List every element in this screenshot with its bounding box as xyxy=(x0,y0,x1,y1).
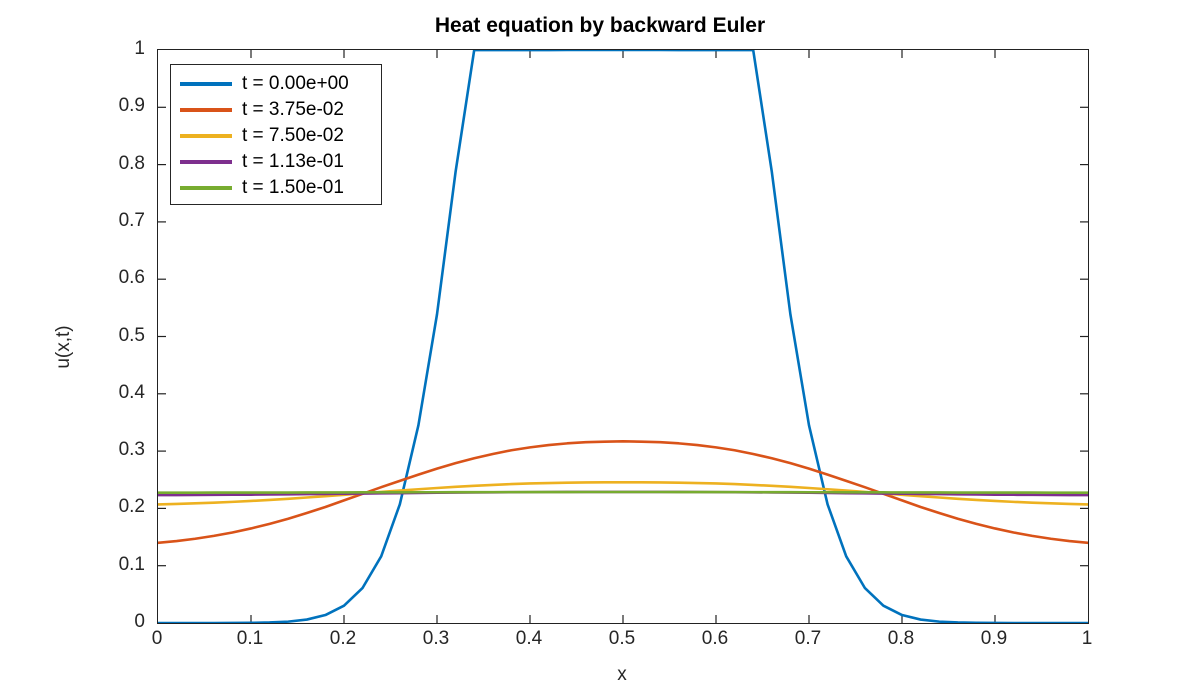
x-tick-label: 0.4 xyxy=(516,628,542,650)
x-tick-label: 0.7 xyxy=(795,628,821,650)
legend-item-label: t = 3.75e-02 xyxy=(242,99,344,121)
y-tick-label: 0 xyxy=(134,611,145,633)
legend-item-label: t = 7.50e-02 xyxy=(242,125,344,147)
x-tick-label: 0.3 xyxy=(423,628,449,650)
legend-item-label: t = 1.50e-01 xyxy=(242,177,344,199)
y-tick-label: 1 xyxy=(134,38,145,60)
figure-canvas: Heat equation by backward Euler 00.10.20… xyxy=(0,0,1200,700)
legend-item[interactable]: t = 3.75e-02 xyxy=(171,97,381,123)
y-tick-label: 0.4 xyxy=(119,382,145,404)
legend-color-swatch xyxy=(180,134,232,138)
x-tick-label: 0 xyxy=(152,628,163,650)
y-tick-label: 0.2 xyxy=(119,496,145,518)
y-tick-label: 0.7 xyxy=(119,210,145,232)
legend[interactable]: t = 0.00e+00t = 3.75e-02t = 7.50e-02t = … xyxy=(170,64,382,205)
x-tick-label: 0.2 xyxy=(330,628,356,650)
x-axis-label: x xyxy=(157,664,1087,686)
legend-color-swatch xyxy=(180,160,232,164)
y-tick-label: 0.1 xyxy=(119,554,145,576)
x-tick-label: 0.1 xyxy=(237,628,263,650)
y-tick-label: 0.8 xyxy=(119,153,145,175)
legend-item-label: t = 1.13e-01 xyxy=(242,151,344,173)
legend-item[interactable]: t = 1.50e-01 xyxy=(171,175,381,201)
x-tick-label: 0.9 xyxy=(981,628,1007,650)
x-tick-label: 0.6 xyxy=(702,628,728,650)
legend-color-swatch xyxy=(180,108,232,112)
legend-item[interactable]: t = 0.00e+00 xyxy=(171,71,381,97)
legend-item[interactable]: t = 7.50e-02 xyxy=(171,123,381,149)
y-axis-label: u(x,t) xyxy=(53,277,75,417)
legend-color-swatch xyxy=(180,82,232,86)
page-title: Heat equation by backward Euler xyxy=(0,14,1200,38)
series-line-5 xyxy=(158,492,1088,493)
legend-color-swatch xyxy=(180,186,232,190)
legend-item[interactable]: t = 1.13e-01 xyxy=(171,149,381,175)
y-tick-label: 0.9 xyxy=(119,95,145,117)
y-tick-label: 0.3 xyxy=(119,439,145,461)
y-tick-label: 0.5 xyxy=(119,325,145,347)
x-tick-label: 1 xyxy=(1082,628,1093,650)
x-tick-label: 0.5 xyxy=(609,628,635,650)
legend-item-label: t = 0.00e+00 xyxy=(242,73,349,95)
y-tick-label: 0.6 xyxy=(119,267,145,289)
x-tick-label: 0.8 xyxy=(888,628,914,650)
